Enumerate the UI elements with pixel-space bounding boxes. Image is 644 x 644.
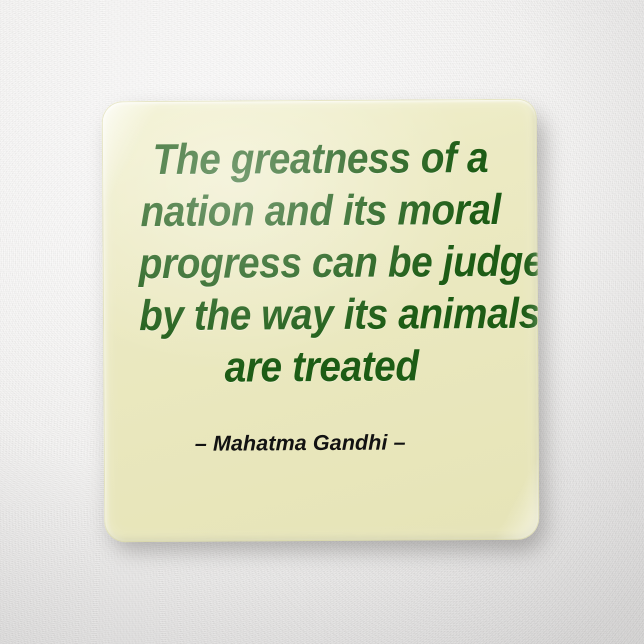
quote-text: The greatness of a nation and its moral …	[123, 99, 516, 394]
quote-line-1: The greatness of a	[138, 132, 503, 186]
quote-line-5: are treated	[139, 340, 504, 394]
square-pinback-button[interactable]: The greatness of a nation and its moral …	[102, 99, 540, 543]
product-photo-scene: The greatness of a nation and its moral …	[0, 0, 644, 644]
quote-attribution: – Mahatma Gandhi –	[103, 392, 538, 458]
button-face: The greatness of a nation and its moral …	[102, 99, 540, 543]
quote-line-3: progress can be judged	[139, 236, 504, 290]
quote-line-4: by the way its animals	[139, 288, 504, 342]
quote-line-2: nation and its moral	[138, 184, 503, 238]
